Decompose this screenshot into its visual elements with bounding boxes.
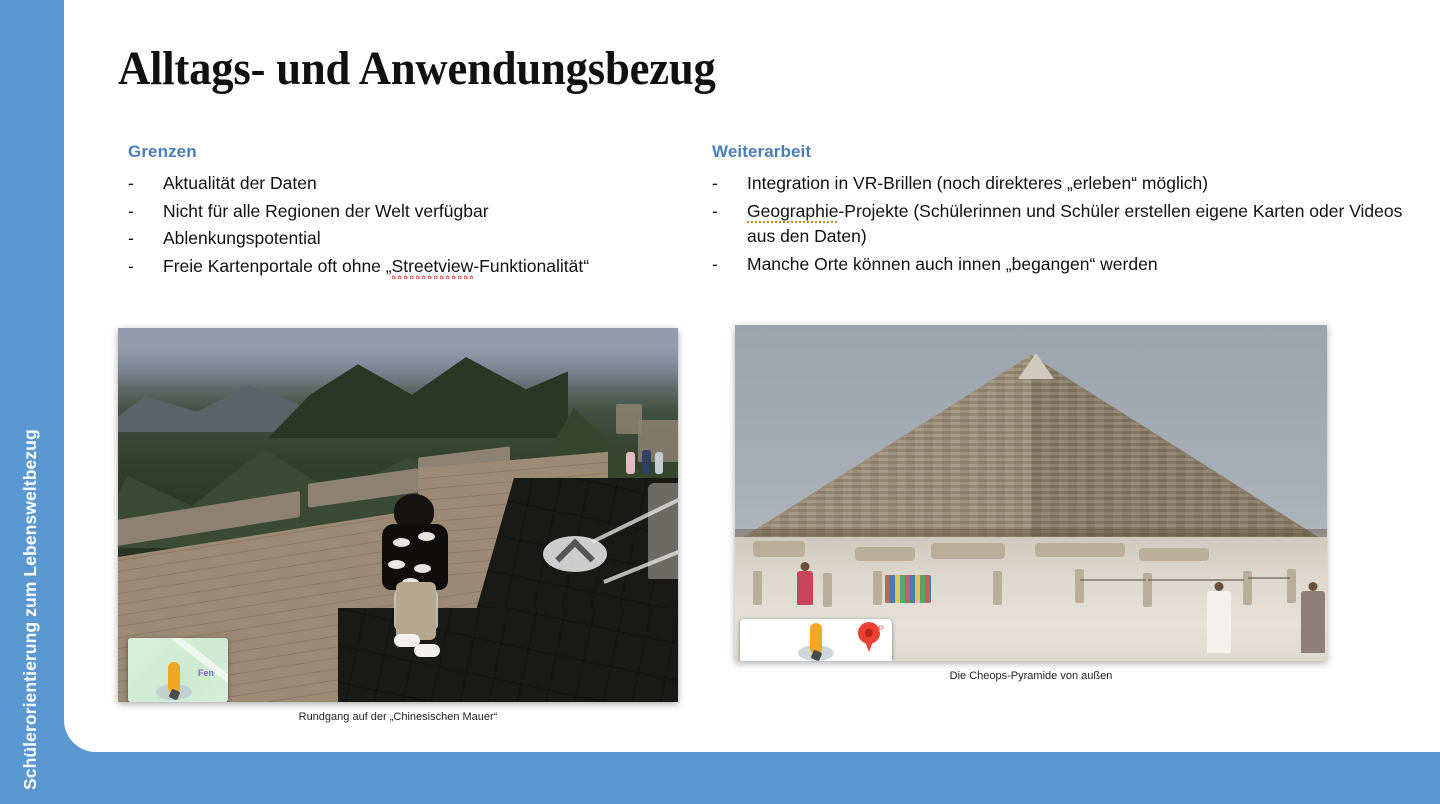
bullet-list-weiterarbeit: - Integration in VR-Brillen (noch direkt…	[712, 171, 1412, 277]
bollard	[993, 571, 1002, 605]
slide-canvas: Schülerorientierung zum Lebensweltbezug …	[0, 0, 1440, 804]
rubble	[1035, 543, 1125, 557]
bullet-text-post: -Projekte (Schülerinnen und Schüler erst…	[747, 201, 1402, 247]
bullet-dash: -	[128, 254, 163, 280]
list-item: - Nicht für alle Regionen der Welt verfü…	[128, 199, 698, 225]
list-item: - Integration in VR-Brillen (noch direkt…	[712, 171, 1412, 197]
pegman-head	[810, 623, 822, 634]
chain	[1080, 579, 1146, 581]
bullet-text: Integration in VR-Brillen (noch direkter…	[747, 171, 1412, 197]
bullet-text: Freie Kartenportale oft ohne „Streetview…	[163, 254, 698, 280]
bullet-dash: -	[712, 171, 747, 197]
grammarcheck-marked-word: Geographie	[747, 201, 838, 224]
tourist-far-3	[655, 452, 663, 474]
minimap-place-label: P	[878, 625, 884, 634]
chain	[1148, 579, 1244, 581]
streetview-minimap[interactable]: P	[740, 619, 892, 661]
list-item: - Geographie-Projekte (Schülerinnen und …	[712, 199, 1412, 250]
rubble	[855, 547, 915, 561]
bow-decoration	[393, 538, 410, 547]
visitor-head	[1309, 582, 1318, 591]
column-weiterarbeit: Weiterarbeit - Integration in VR-Brillen…	[712, 142, 1412, 279]
bullet-dash: -	[128, 171, 163, 197]
streetview-minimap[interactable]: Fen	[128, 638, 228, 702]
bullet-dash: -	[128, 226, 163, 252]
rubble	[753, 541, 805, 557]
page-title: Alltags- und Anwendungsbezug	[118, 40, 716, 98]
minimap-place-label: Fen	[198, 668, 214, 678]
bullet-text-pre: Freie Kartenportale oft ohne „	[163, 256, 392, 276]
visitor-grey-shirt	[1301, 591, 1325, 653]
bullet-text: Ablenkungspotential	[163, 226, 698, 252]
rubble	[1139, 548, 1209, 561]
wall-walkway-near	[338, 608, 678, 702]
figure-great-wall: Fen Rundgang auf der „Chinesischen Mauer…	[118, 328, 678, 702]
pegman-head	[168, 662, 180, 673]
figure-caption: Die Cheops-Pyramide von außen	[735, 670, 1327, 682]
rubble	[931, 543, 1005, 559]
bullet-list-grenzen: - Aktualität der Daten - Nicht für alle …	[128, 171, 698, 279]
bow-decoration	[388, 560, 405, 569]
list-item: - Aktualität der Daten	[128, 171, 698, 197]
bullet-text: Manche Orte können auch innen „begangen“…	[747, 252, 1412, 278]
bullet-text: Geographie-Projekte (Schülerinnen und Sc…	[747, 199, 1412, 250]
bollard	[1075, 569, 1084, 603]
bullet-text-post: -Funktionalität“	[473, 256, 589, 276]
spellcheck-marked-word: Streetview	[392, 256, 474, 279]
bullet-text: Aktualität der Daten	[163, 171, 698, 197]
column-heading-grenzen: Grenzen	[128, 142, 698, 162]
bollard	[823, 573, 832, 607]
visitor-pink-shirt	[797, 571, 813, 605]
tourist-far-2	[642, 450, 651, 474]
bullet-text: Nicht für alle Regionen der Welt verfügb…	[163, 199, 698, 225]
bullet-dash: -	[128, 199, 163, 225]
visitor-head	[801, 562, 810, 571]
visitor-white-shirt	[1207, 591, 1231, 653]
bollard	[1287, 569, 1296, 603]
bollard	[873, 571, 882, 605]
bullet-dash: -	[712, 199, 747, 250]
map-pin-icon[interactable]	[858, 622, 880, 652]
figure-caption: Rundgang auf der „Chinesischen Mauer“	[118, 711, 678, 723]
list-item: - Manche Orte können auch innen „begange…	[712, 252, 1412, 278]
figure-pyramid: P Die Cheops-Pyramide von außen	[735, 325, 1327, 661]
pyramid-streetview-image: P	[735, 325, 1327, 661]
sidebar-vertical-label: Schülerorientierung zum Lebensweltbezug	[20, 429, 41, 790]
child-shoe-right	[414, 644, 440, 657]
pyramid-shaded-face	[1031, 355, 1327, 545]
child-sweater	[382, 524, 448, 590]
column-heading-weiterarbeit: Weiterarbeit	[712, 142, 1412, 162]
chain	[1248, 577, 1290, 579]
souvenir-stall	[885, 575, 931, 603]
tourist-right-adult	[648, 483, 678, 579]
list-item: - Freie Kartenportale oft ohne „Streetvi…	[128, 254, 698, 280]
bow-decoration	[418, 532, 435, 541]
tourist-far-1	[626, 452, 635, 474]
bollard	[753, 571, 762, 605]
map-pin-hole	[865, 629, 873, 637]
sidebar-vertical-band: Schülerorientierung zum Lebensweltbezug	[0, 0, 64, 804]
list-item: - Ablenkungspotential	[128, 226, 698, 252]
bullet-dash: -	[712, 252, 747, 278]
great-wall-streetview-image: Fen	[118, 328, 678, 702]
column-grenzen: Grenzen - Aktualität der Daten - Nicht f…	[128, 142, 698, 281]
bow-decoration	[414, 564, 431, 573]
visitor-head	[1215, 582, 1224, 591]
child-legs	[396, 582, 436, 640]
